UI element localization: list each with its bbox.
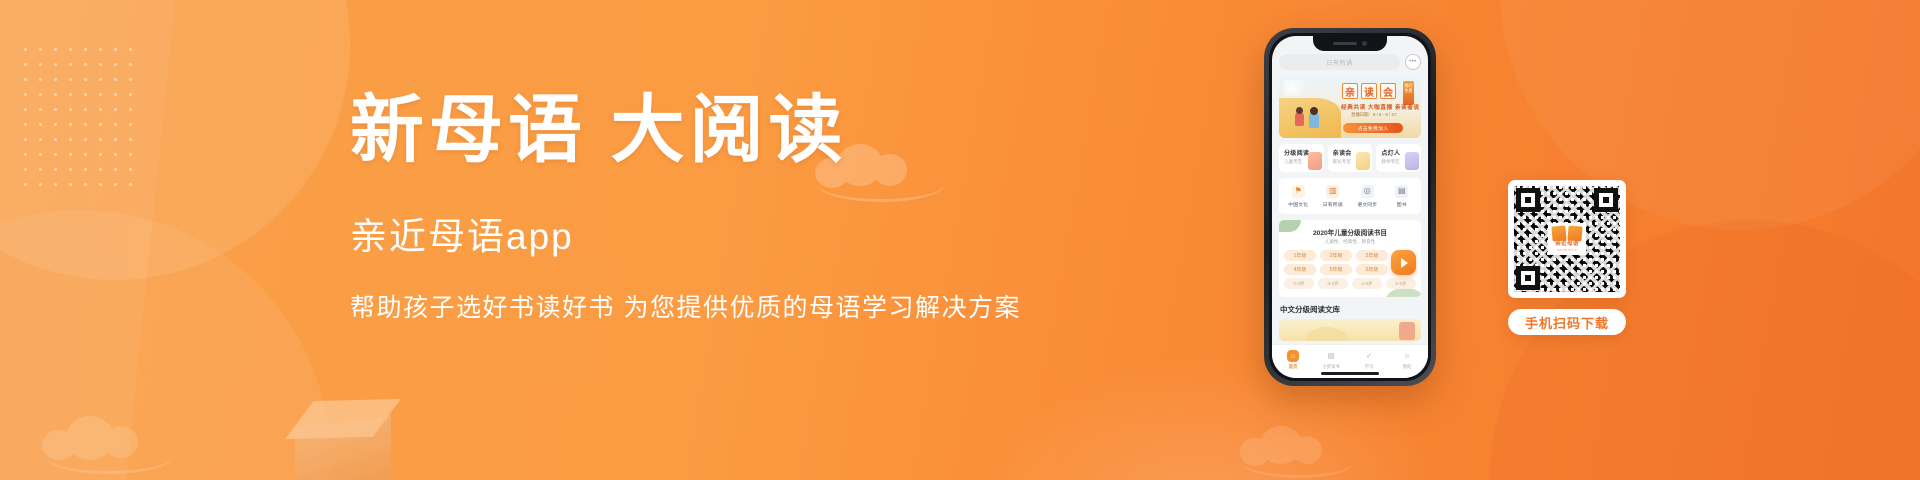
qr-center-logo: 亲近母语 QINJIN MUYU (1548, 223, 1586, 255)
phone-screen: 日有所诵 ••• 亲 读 会 (1272, 36, 1428, 378)
grade-chip[interactable]: 6年级 (1356, 264, 1388, 275)
tab-reader[interactable]: ▤ 小步读书 (1312, 350, 1350, 370)
cloud-motif-icon (1240, 422, 1360, 476)
quick-item-sync-course[interactable]: ◎ 语文同步 (1350, 185, 1385, 208)
hero-title: 亲 读 会 (1342, 83, 1396, 99)
search-input[interactable]: 日有所诵 (1279, 54, 1400, 70)
tagline: 帮助孩子选好书读好书 为您提供优质的母语学习解决方案 (350, 288, 1010, 324)
sync-icon: ◎ (1361, 185, 1374, 198)
tab-profile[interactable]: ☺ 我的 (1388, 350, 1426, 370)
play-icon (1401, 258, 1408, 268)
download-caption-label: 手机扫码下载 (1525, 313, 1609, 332)
cube-shape (295, 415, 391, 480)
booklist-panel: 2020年儿童分级阅读书目 儿童性、经典性、教育性 1年级 2年级 3年级 (1279, 220, 1421, 297)
leaf-decoration-icon (1385, 289, 1421, 297)
bookmark-icon (1405, 152, 1419, 170)
library-tab-decoration (1399, 322, 1415, 340)
grade-chip[interactable]: 1年级 (1284, 250, 1316, 261)
entry-cards: 分级阅读 儿童专区 亲读会 家长专区 点灯人 教师专区 (1279, 144, 1421, 172)
qr-block: 亲近母语 QINJIN MUYU 手机扫码下载 (1508, 180, 1626, 335)
book-logo-icon (1552, 226, 1582, 241)
bookmark-icon (1308, 152, 1322, 170)
lantern-icon: ⚑ (1292, 185, 1305, 198)
qr-finder-icon (1516, 266, 1540, 290)
grade-chip[interactable]: 4年级 (1284, 264, 1316, 275)
quick-item-books[interactable]: ▤ 图书 (1385, 185, 1420, 208)
age-chip[interactable]: 4-5岁 (1352, 278, 1382, 289)
bottom-tab-bar: ⌂ 首页 ▤ 小步读书 ✓ 学习 ☺ 我的 (1272, 344, 1428, 378)
hero-cta-button[interactable]: 点击免费加入 (1343, 123, 1403, 133)
library-illustration (1305, 327, 1349, 341)
quick-item-daily-recite[interactable]: ▥ 日有所诵 (1316, 185, 1351, 208)
qr-code-image: 亲近母语 QINJIN MUYU (1514, 186, 1620, 292)
home-indicator (1321, 372, 1379, 375)
search-row: 日有所诵 ••• (1279, 54, 1421, 70)
quick-item-chinese-culture[interactable]: ⚑ 中国文化 (1281, 185, 1316, 208)
hero-child-illustration (1295, 112, 1304, 126)
bookmark-icon (1356, 152, 1370, 170)
hero-child-illustration (1309, 112, 1319, 128)
home-icon: ⌂ (1287, 350, 1299, 362)
play-video-button[interactable] (1391, 250, 1416, 275)
download-caption-button[interactable]: 手机扫码下载 (1508, 309, 1626, 335)
hero-ribbon-badge: 限时免费 (1403, 81, 1414, 105)
age-chip[interactable]: 0-3岁 (1284, 278, 1314, 289)
profile-icon: ☺ (1401, 350, 1413, 362)
age-chip[interactable]: 3-4岁 (1318, 278, 1348, 289)
quick-entry-row: ⚑ 中国文化 ▥ 日有所诵 ◎ 语文同步 ▤ 图 (1279, 178, 1421, 214)
tab-study[interactable]: ✓ 学习 (1350, 350, 1388, 370)
phone-mockup: 日有所诵 ••• 亲 读 会 (1264, 28, 1436, 386)
reader-icon: ▤ (1325, 350, 1337, 362)
tab-home[interactable]: ⌂ 首页 (1274, 350, 1312, 370)
qr-card[interactable]: 亲近母语 QINJIN MUYU (1508, 180, 1626, 298)
cloud-motif-icon (40, 410, 180, 472)
library-card[interactable] (1279, 319, 1421, 341)
camera-icon (1362, 41, 1367, 46)
hero-sky (1283, 80, 1313, 96)
grade-chip-grid: 1年级 2年级 3年级 4年级 5年级 6年级 0-3岁 (1284, 250, 1416, 289)
hero-date: 直播日期：9 / 6 - 9 / 27 (1351, 112, 1396, 118)
booklist-subtitle: 儿童性、经典性、教育性 (1284, 239, 1416, 245)
app-name: 亲近母语app (350, 206, 1010, 260)
qr-finder-icon (1594, 188, 1618, 212)
hero-banner[interactable]: 亲 读 会 限时免费 经典共读 大咖直播 亲读者说 直播日期：9 / 6 - 9… (1279, 76, 1421, 138)
headline: 新母语 大阅读 (350, 92, 1010, 172)
grade-chip[interactable]: 5年级 (1320, 264, 1352, 275)
study-icon: ✓ (1363, 350, 1375, 362)
phone-bezel: 日有所诵 ••• 亲 读 会 (1269, 33, 1431, 381)
book-open-icon: ▥ (1326, 185, 1339, 198)
promo-banner: 新母语 大阅读 亲近母语app 帮助孩子选好书读好书 为您提供优质的母语学习解决… (0, 0, 1920, 480)
entry-card-graded-reading[interactable]: 分级阅读 儿童专区 (1279, 144, 1324, 172)
age-chip[interactable]: 5-6岁 (1386, 278, 1416, 289)
speaker-icon (1333, 42, 1357, 45)
booklist-title: 2020年儿童分级阅读书目 (1284, 227, 1416, 237)
phone-notch (1313, 36, 1387, 51)
hero-subtitle: 经典共读 大咖直播 亲读者说 (1341, 103, 1420, 111)
grade-chip[interactable]: 2年级 (1320, 250, 1352, 261)
entry-card-teacher[interactable]: 点灯人 教师专区 (1376, 144, 1421, 172)
books-icon: ▤ (1395, 185, 1408, 198)
message-icon[interactable]: ••• (1405, 54, 1421, 70)
qr-finder-icon (1516, 188, 1540, 212)
search-placeholder: 日有所诵 (1326, 58, 1352, 67)
dot-grid-pattern (18, 42, 143, 192)
grade-chip[interactable]: 3年级 (1356, 250, 1388, 261)
copy-block: 新母语 大阅读 亲近母语app 帮助孩子选好书读好书 为您提供优质的母语学习解决… (350, 92, 1010, 324)
entry-card-parent-club[interactable]: 亲读会 家长专区 (1328, 144, 1373, 172)
library-section-title: 中文分级阅读文库 (1279, 304, 1421, 315)
